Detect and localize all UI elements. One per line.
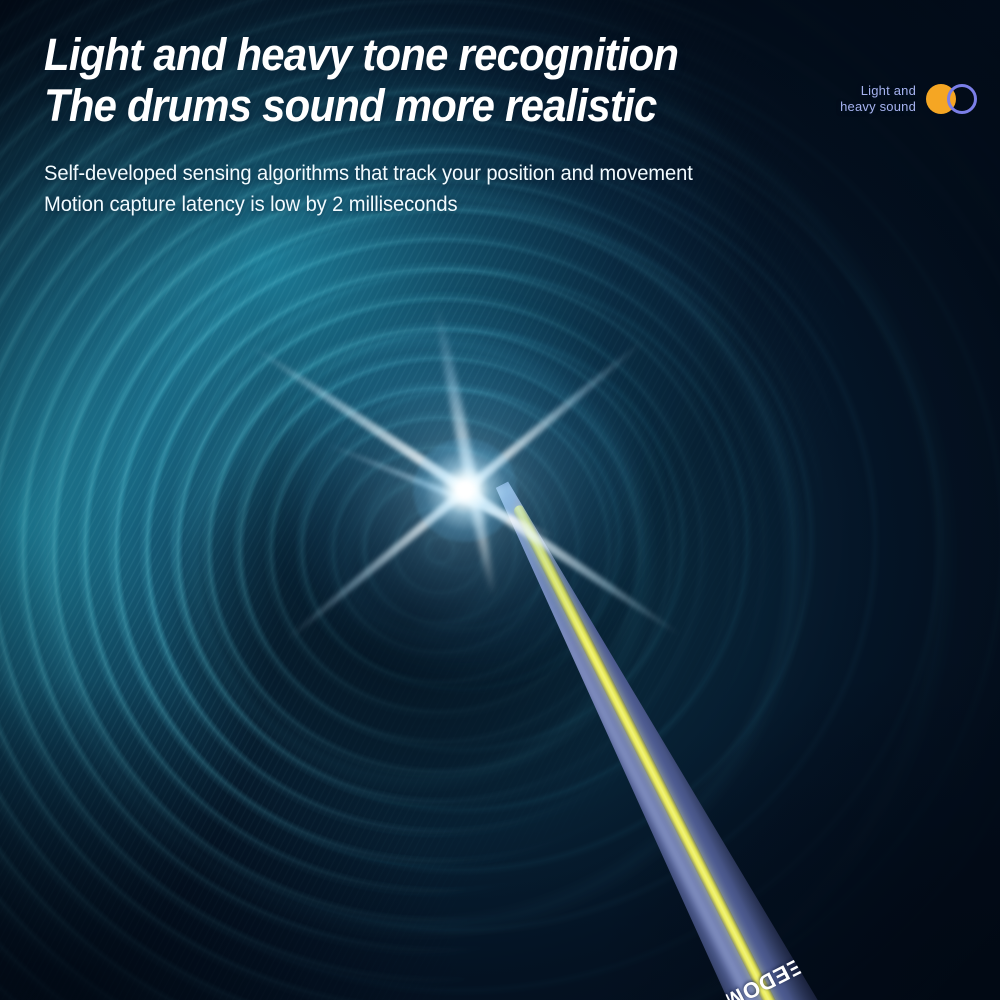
subcopy: Self-developed sensing algorithms that t… — [44, 158, 774, 220]
drumstick-brand-text: EEDOM — [720, 952, 808, 1000]
flare-ray-short — [323, 440, 557, 539]
flare-ray-diagonal-secondary — [282, 335, 648, 644]
drumstick-tip-glow — [470, 462, 593, 592]
drumstick-yellow-stripe — [512, 503, 801, 1000]
subcopy-line-2: Motion capture latency is low by 2 milli… — [44, 189, 774, 220]
drumstick-body — [470, 462, 837, 1000]
feature-badge: Light and heavy sound — [840, 82, 978, 116]
copy-block: Light and heavy tone recognitionThe drum… — [44, 30, 804, 220]
drumstick-shadow-edge — [523, 462, 837, 1000]
flare-core — [413, 438, 517, 542]
drumstick-shape: EEDOM — [470, 462, 837, 1000]
promo-poster: EEDOM Light and heavy tone recognitionTh… — [0, 0, 1000, 1000]
subcopy-line-1: Self-developed sensing algorithms that t… — [44, 158, 774, 189]
drumstick-highlight — [482, 487, 788, 1000]
badge-outline-circle — [947, 84, 977, 114]
flare-ray-diagonal-primary — [247, 340, 684, 639]
headline-line-2: The drums sound more realistic — [44, 81, 751, 132]
feature-badge-line-1: Light and — [840, 83, 916, 99]
flare-halo — [290, 315, 640, 665]
feature-badge-line-2: heavy sound — [840, 99, 916, 115]
headline: Light and heavy tone recognitionThe drum… — [44, 30, 751, 132]
feature-badge-label: Light and heavy sound — [840, 83, 916, 116]
two-overlapping-circles-icon — [926, 82, 978, 116]
flare-ray-vertical — [430, 302, 499, 599]
headline-line-1: Light and heavy tone recognition — [44, 29, 678, 80]
